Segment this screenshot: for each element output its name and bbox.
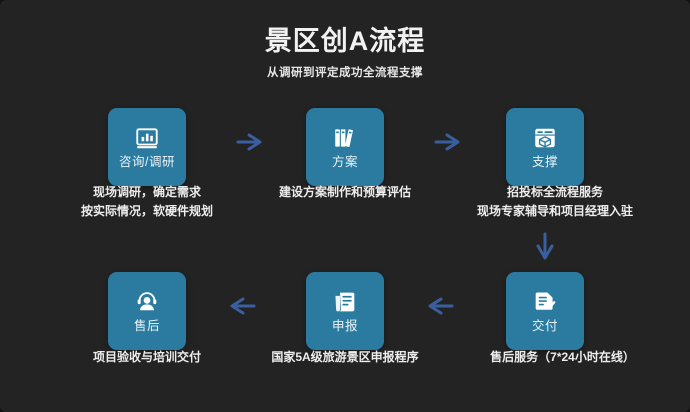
caption-line: 国家5A级旅游景区申报程序 <box>243 348 447 367</box>
caption-line: 按实际情况，软硬件规划 <box>0 202 294 221</box>
step-card-label: 售后 <box>134 320 160 333</box>
step-card-aftersales[interactable]: 售后 <box>108 272 186 350</box>
step-card-delivery[interactable]: 交付 <box>506 272 584 350</box>
step-card-plan[interactable]: 方案 <box>306 108 384 186</box>
news-document-icon <box>332 289 358 315</box>
step-caption-declaration: 国家5A级旅游景区申报程序 <box>243 348 447 367</box>
step-card-declaration[interactable]: 申报 <box>306 272 384 350</box>
page-subtitle: 从调研到评定成功全流程支撑 <box>0 64 690 80</box>
step-caption-plan: 建设方案制作和预算评估 <box>245 183 445 202</box>
caption-line: 建设方案制作和预算评估 <box>245 183 445 202</box>
step-card-label: 交付 <box>532 320 558 333</box>
step-card-consulting[interactable]: 咨询/调研 <box>108 108 186 186</box>
step-card-label: 申报 <box>332 320 358 333</box>
step-caption-aftersales: 项目验收与培训交付 <box>38 348 256 367</box>
caption-line: 现场专家辅导和项目经理入驻 <box>420 202 690 221</box>
browser-box-icon <box>532 125 558 151</box>
step-caption-support: 招投标全流程服务 现场专家辅导和项目经理入驻 <box>420 183 690 220</box>
connector-arrow-right-2 <box>434 131 470 153</box>
flow-diagram-canvas: 景区创A流程 从调研到评定成功全流程支撑 咨询/调研 <box>0 0 690 412</box>
bar-chart-icon <box>134 125 160 151</box>
step-card-label: 咨询/调研 <box>119 156 175 169</box>
step-caption-delivery: 售后服务（7*24小时在线） <box>435 348 690 367</box>
diagram-header: 景区创A流程 从调研到评定成功全流程支撑 <box>0 26 690 80</box>
caption-line: 招投标全流程服务 <box>420 183 690 202</box>
connector-arrow-left-2 <box>220 295 256 317</box>
step-card-support[interactable]: 支撑 <box>506 108 584 186</box>
connector-arrow-left-1 <box>418 295 454 317</box>
page-title: 景区创A流程 <box>0 26 690 57</box>
connector-arrow-right-1 <box>236 131 272 153</box>
step-card-label: 支撑 <box>532 156 558 169</box>
connector-arrow-down <box>533 232 557 268</box>
document-check-icon <box>532 289 558 315</box>
step-card-label: 方案 <box>332 156 358 169</box>
caption-line: 项目验收与培训交付 <box>38 348 256 367</box>
caption-line: 售后服务（7*24小时在线） <box>435 348 690 367</box>
headset-support-icon <box>134 289 160 315</box>
books-icon <box>332 125 358 151</box>
